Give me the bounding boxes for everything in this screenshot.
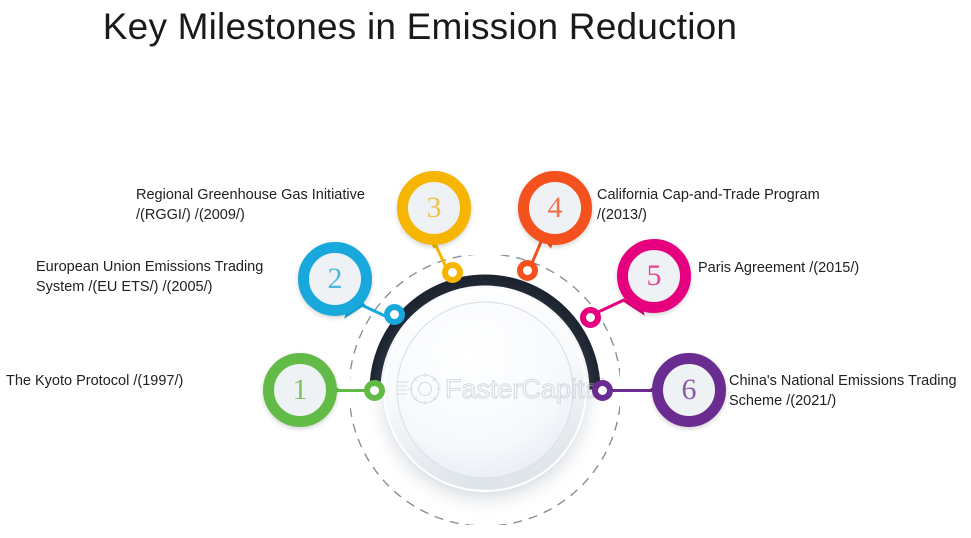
infographic-canvas: Key Milestones in Emission Reduction	[0, 0, 971, 538]
connector-3[interactable]	[442, 262, 463, 283]
diagram-hub	[350, 255, 620, 525]
connector-5[interactable]	[580, 307, 601, 328]
milestone-label-6-line1: China's National Emissions Trading	[729, 371, 957, 391]
milestone-label-3: Regional Greenhouse Gas Initiative /(RGG…	[136, 185, 365, 225]
milestone-label-4-line2: /(2013/)	[597, 205, 820, 225]
milestone-label-3-line1: Regional Greenhouse Gas Initiative	[136, 185, 365, 205]
pin-bubble-5	[617, 239, 691, 313]
pin-bubble-3	[397, 171, 471, 245]
milestone-pin-3[interactable]: 3	[397, 171, 471, 245]
connector-6[interactable]	[592, 380, 613, 401]
milestone-label-2: European Union Emissions Trading System …	[36, 257, 263, 297]
milestone-pin-1[interactable]: 1	[263, 353, 337, 427]
milestone-label-2-line2: System /(EU ETS/) /(2005/)	[36, 277, 263, 297]
pin-bubble-4	[518, 171, 592, 245]
connector-1[interactable]	[364, 380, 385, 401]
milestone-label-4-line1: California Cap-and-Trade Program	[597, 185, 820, 205]
hub-core	[400, 305, 570, 475]
pin-bubble-2	[298, 242, 372, 316]
milestone-pin-4[interactable]: 4	[518, 171, 592, 245]
milestone-label-4: California Cap-and-Trade Program /(2013/…	[597, 185, 820, 225]
milestone-label-5: Paris Agreement /(2015/)	[698, 258, 859, 278]
connector-2[interactable]	[384, 304, 405, 325]
milestone-pin-2[interactable]: 2	[298, 242, 372, 316]
milestone-label-3-line2: /(RGGI/) /(2009/)	[136, 205, 365, 225]
milestone-label-1: The Kyoto Protocol /(1997/)	[6, 371, 183, 391]
connector-4[interactable]	[517, 260, 538, 281]
milestone-label-5-line1: Paris Agreement /(2015/)	[698, 258, 859, 278]
milestone-pin-6[interactable]: 6	[652, 353, 726, 427]
milestone-pin-5[interactable]: 5	[617, 239, 691, 313]
milestone-label-6: China's National Emissions Trading Schem…	[729, 371, 957, 411]
pin-bubble-6	[652, 353, 726, 427]
milestone-label-1-line1: The Kyoto Protocol /(1997/)	[6, 371, 183, 391]
page-title: Key Milestones in Emission Reduction	[0, 6, 840, 48]
pin-bubble-1	[263, 353, 337, 427]
milestone-label-2-line1: European Union Emissions Trading	[36, 257, 263, 277]
milestone-label-6-line2: Scheme /(2021/)	[729, 391, 957, 411]
